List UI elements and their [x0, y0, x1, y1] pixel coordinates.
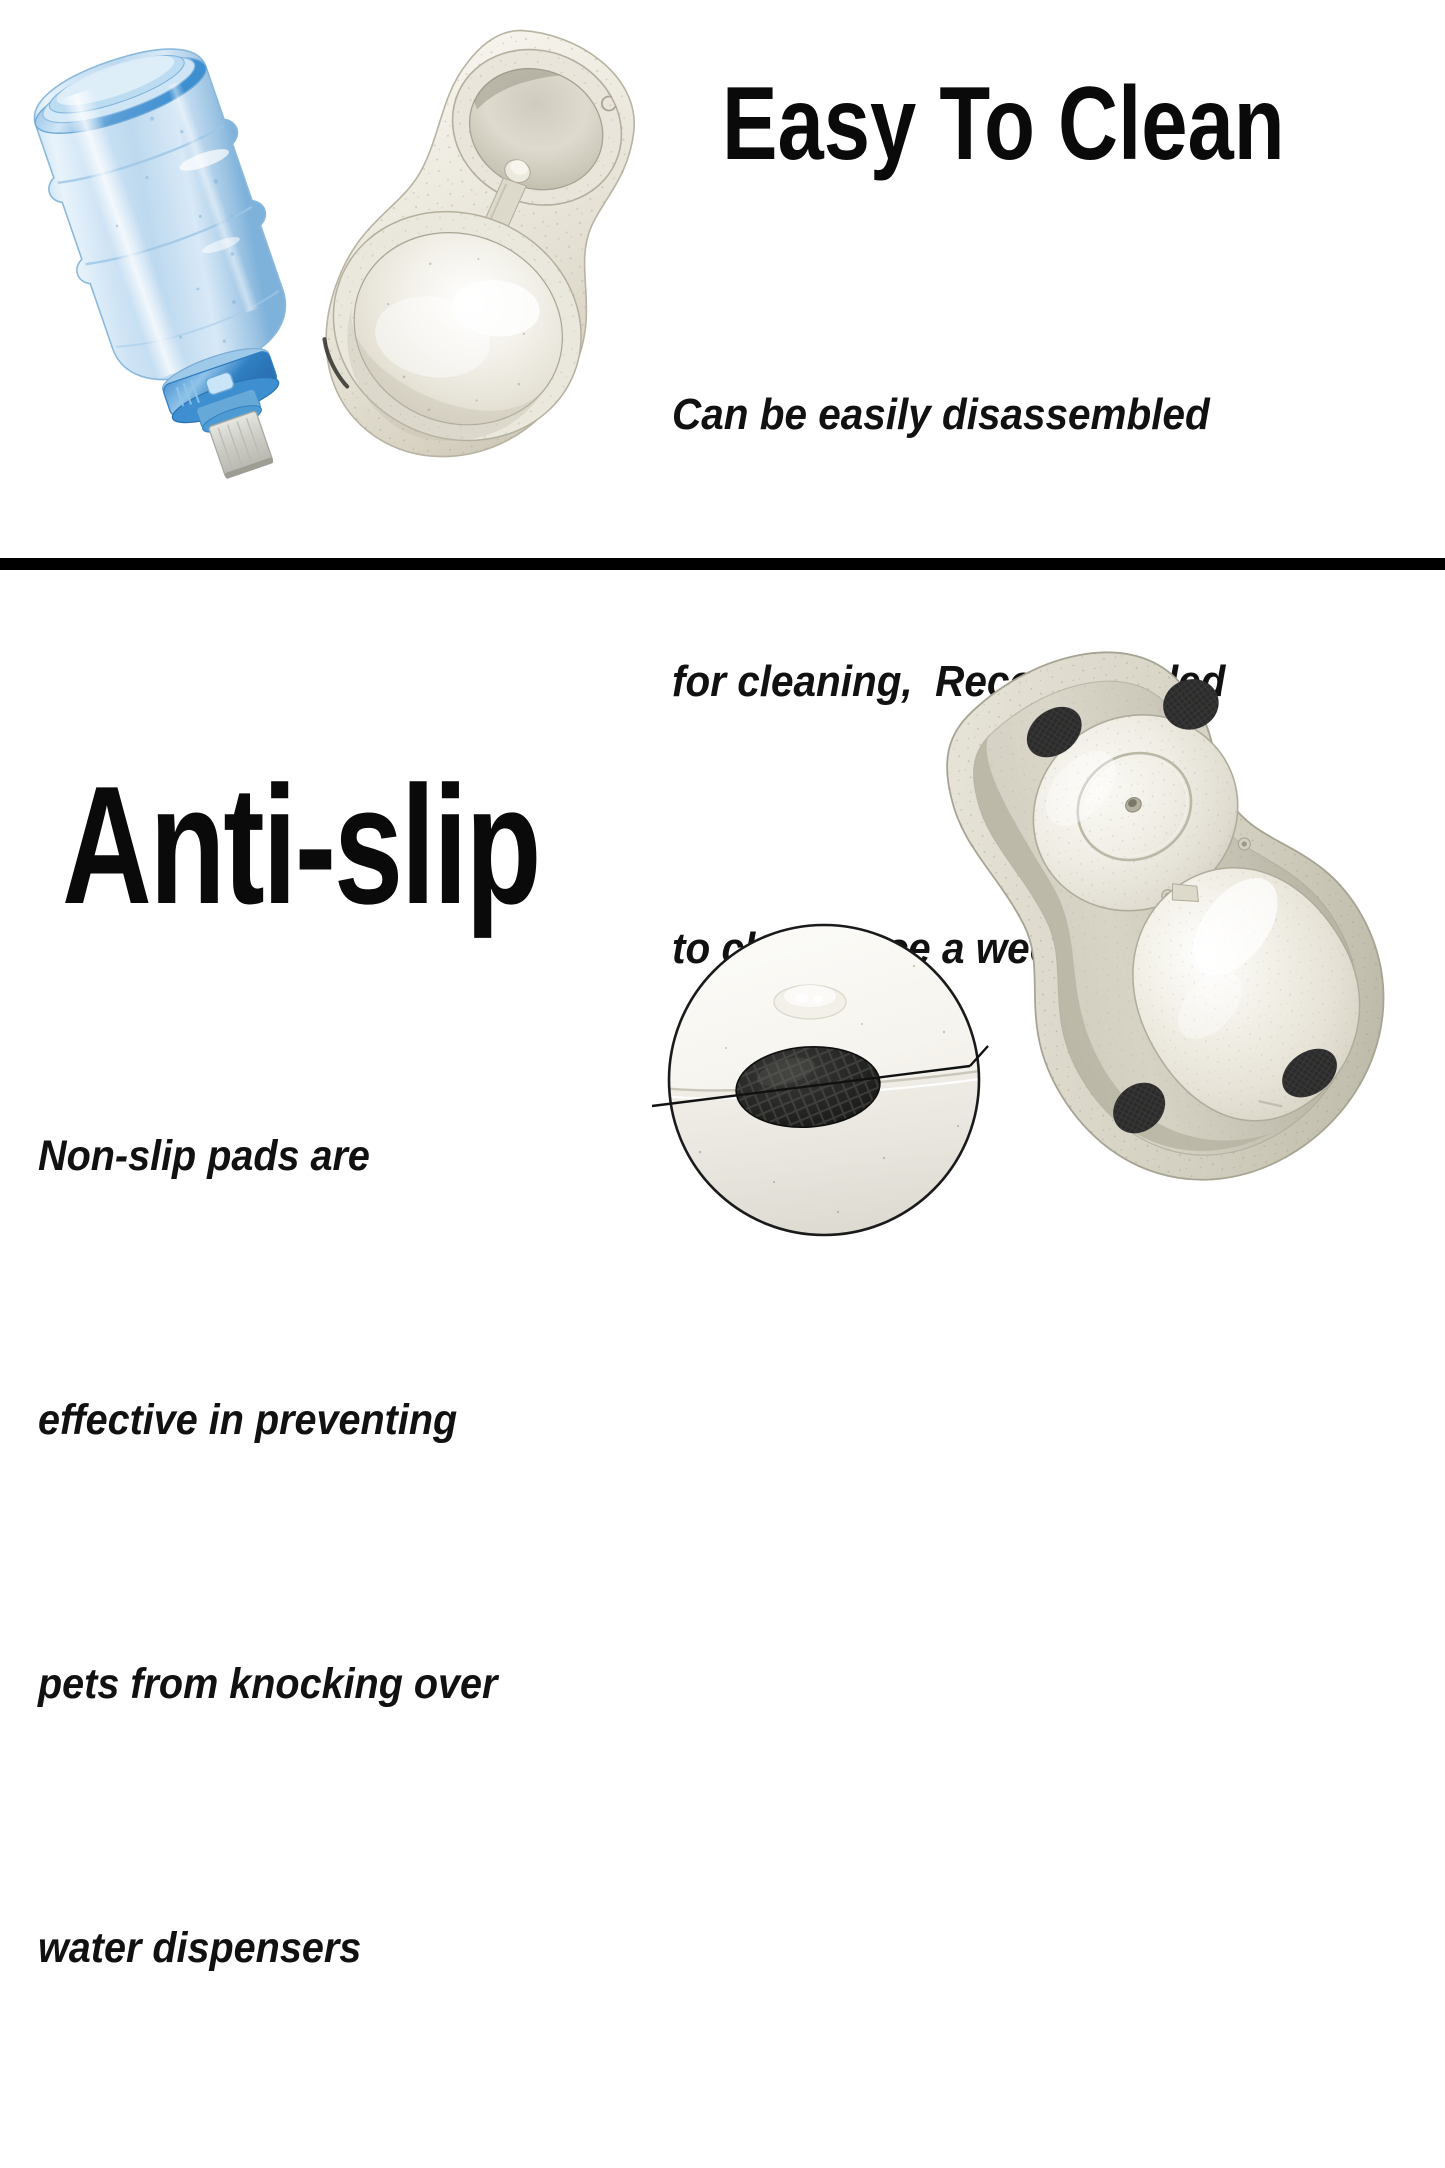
water-bottle-photo [28, 22, 328, 502]
description-line: pets from knocking over [38, 1640, 497, 1728]
description-anti-slip: Non-slip pads are effective in preventin… [38, 936, 497, 2168]
infographic-page: Easy To Clean Can be easily disassembled… [0, 0, 1445, 1261]
description-line: effective in preventing [38, 1376, 497, 1464]
section-easy-to-clean: Easy To Clean Can be easily disassembled… [0, 0, 1445, 558]
bowl-underside-photo [935, 612, 1435, 1192]
page-title-easy-to-clean: Easy To Clean [722, 72, 1285, 176]
section-divider [0, 558, 1445, 570]
description-line: water dispensers [38, 1904, 497, 1992]
bowl-base-photo [322, 4, 672, 504]
page-title-anti-slip: Anti-slip [62, 761, 539, 929]
non-slip-pad-zoom-callout [662, 920, 987, 1240]
description-line: Can be easily disassembled [672, 370, 1225, 459]
description-line: Non-slip pads are [38, 1112, 497, 1200]
